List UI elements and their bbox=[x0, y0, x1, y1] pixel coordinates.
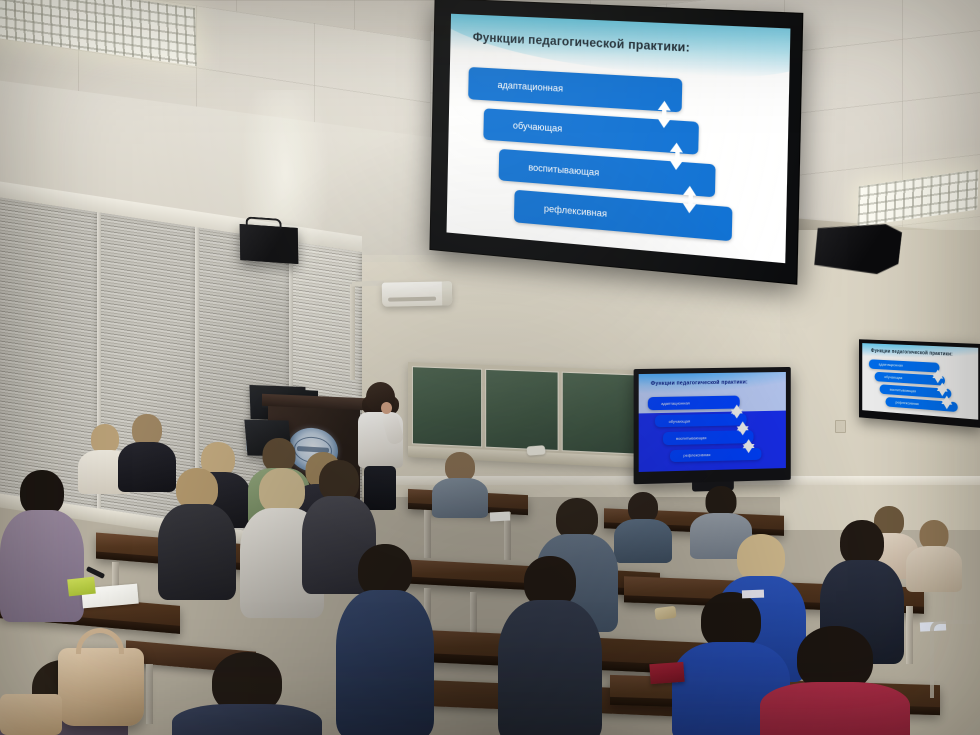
paper-sheet bbox=[490, 511, 510, 521]
window-light-glow bbox=[240, 90, 330, 300]
slide-content-mirror: Функции педагогической практики: адаптац… bbox=[639, 372, 786, 472]
person-body bbox=[336, 590, 434, 735]
person-body bbox=[158, 504, 236, 600]
person-body bbox=[432, 478, 488, 518]
handbag-icon bbox=[58, 648, 144, 726]
person-body bbox=[614, 519, 672, 563]
wall-tv[interactable]: Функции педагогической практики: адаптац… bbox=[859, 339, 980, 428]
audience-member bbox=[498, 556, 602, 735]
ac-conduit bbox=[350, 284, 355, 380]
slide-box-1-mirror: адаптационная bbox=[648, 396, 740, 410]
chalk-icon bbox=[526, 445, 545, 456]
slide-box-label: обучающая bbox=[669, 418, 690, 423]
slide-box-label: рефлексивная bbox=[895, 400, 918, 407]
person-body bbox=[0, 510, 84, 622]
audience-member bbox=[336, 544, 434, 734]
audience-member bbox=[0, 470, 84, 620]
monitor-tv[interactable]: Функции педагогической практики: адаптац… bbox=[634, 367, 791, 484]
person-body bbox=[498, 600, 602, 735]
double-arrow-vertical-icon bbox=[683, 185, 698, 214]
double-arrow-vertical-icon bbox=[942, 395, 948, 409]
wall-tv-screen-surface: Функции педагогической практики: адаптац… bbox=[862, 343, 978, 420]
double-arrow-vertical-icon bbox=[731, 405, 738, 419]
screen-surface: Функции педагогической практики: адаптац… bbox=[447, 14, 791, 264]
lecture-hall-scene: Функции педагогической практики: адаптац… bbox=[0, 0, 980, 735]
double-arrow-vertical-icon bbox=[670, 143, 685, 171]
chair-frame bbox=[930, 620, 976, 698]
slide-box-label: воспитывающая bbox=[528, 162, 599, 178]
person-body bbox=[172, 704, 322, 735]
ac-vent bbox=[388, 297, 436, 302]
person-body bbox=[760, 682, 910, 735]
audience-member bbox=[172, 652, 322, 735]
slide-box-label: рефлексивная bbox=[544, 203, 607, 219]
double-arrow-vertical-icon bbox=[657, 101, 672, 129]
slide-box-label: адаптационная bbox=[661, 400, 690, 406]
monitor-screen-surface: Функции педагогической практики: адаптац… bbox=[639, 372, 786, 472]
slide-box-label: рефлексивная bbox=[683, 453, 710, 459]
slide-box-label: обучающая bbox=[513, 121, 563, 135]
person-body bbox=[906, 546, 962, 592]
slide-box-label: адаптационная bbox=[879, 362, 903, 368]
double-arrow-vertical-icon bbox=[736, 422, 743, 436]
audience-member bbox=[760, 626, 910, 735]
air-conditioner bbox=[382, 281, 452, 306]
handbag-icon bbox=[0, 694, 62, 735]
slide-box-label: воспитывающая bbox=[676, 435, 706, 441]
audience-member bbox=[158, 468, 236, 596]
slide-content-mirror-2: Функции педагогической практики: адаптац… bbox=[862, 343, 978, 420]
audience-member bbox=[614, 492, 672, 556]
ac-side-panel bbox=[442, 281, 453, 305]
audience-member bbox=[906, 520, 962, 586]
slide-box-label: адаптационная bbox=[497, 80, 563, 94]
chalkboard-panel bbox=[412, 366, 482, 447]
double-arrow-vertical-icon bbox=[937, 382, 943, 396]
slide-box-label: воспитывающая bbox=[890, 387, 916, 394]
slide-box-label: обучающая bbox=[884, 375, 902, 381]
chalkboard-panel bbox=[485, 369, 558, 451]
ceiling-speaker bbox=[240, 224, 299, 264]
double-arrow-vertical-icon bbox=[932, 369, 938, 383]
person-head bbox=[737, 534, 785, 582]
double-arrow-vertical-icon bbox=[742, 439, 749, 453]
wall-outlet bbox=[835, 420, 846, 433]
bench-leg bbox=[146, 664, 153, 724]
audience-member bbox=[432, 452, 488, 514]
phone-icon bbox=[654, 606, 676, 620]
notebook-icon bbox=[649, 662, 684, 684]
chalkboard-panel bbox=[562, 372, 637, 455]
presenter-hand bbox=[381, 402, 392, 414]
slide-content: Функции педагогической практики: адаптац… bbox=[447, 14, 791, 264]
paper-sheet bbox=[742, 590, 764, 599]
slide-box-4: рефлексивная bbox=[514, 190, 732, 241]
notepad-icon bbox=[67, 577, 96, 597]
projection-screen[interactable]: Функции педагогической практики: адаптац… bbox=[429, 0, 803, 285]
